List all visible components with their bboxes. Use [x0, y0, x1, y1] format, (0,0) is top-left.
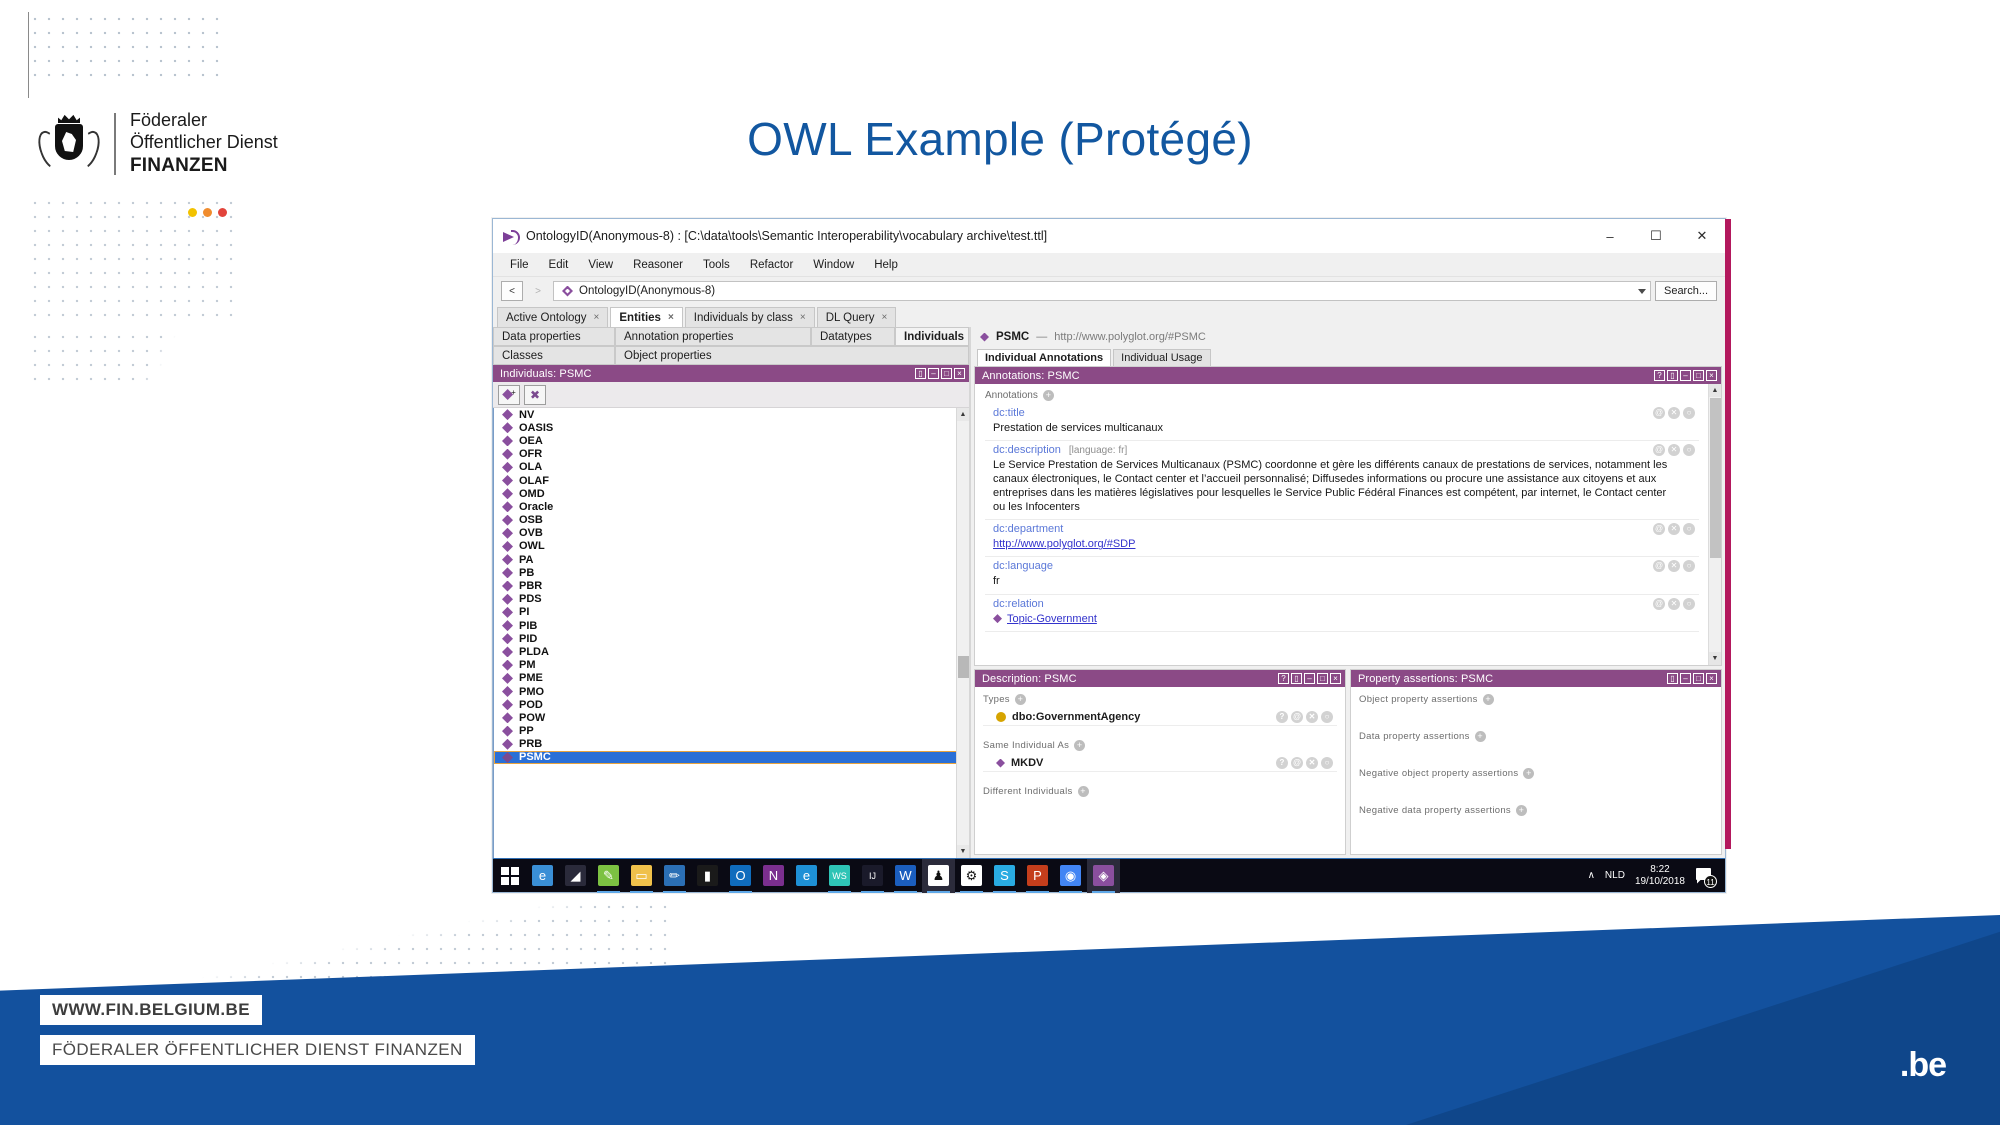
individual-diamond-icon — [502, 541, 513, 552]
list-item[interactable]: OVB — [494, 527, 969, 540]
list-item[interactable]: OMD — [494, 487, 969, 500]
list-item-label: PB — [519, 567, 534, 579]
menu-item-refactor[interactable]: Refactor — [741, 256, 802, 274]
scrollbar-thumb[interactable] — [958, 656, 969, 678]
notification-count-badge: 11 — [1704, 875, 1717, 888]
skype-icon[interactable]: S — [988, 859, 1021, 893]
add-types-button[interactable]: + — [1015, 694, 1026, 705]
list-item-label: PIB — [519, 620, 537, 632]
chrome-icon[interactable]: ◉ — [1054, 859, 1087, 893]
section-label-text: Different Individuals — [983, 786, 1073, 797]
be-logo: .be — [1900, 1046, 1946, 1085]
decorative-dot-grid-top-left — [28, 12, 228, 84]
description-item-label: MKDV — [1011, 757, 1043, 769]
scroll-up-icon[interactable]: ▲ — [1709, 384, 1721, 397]
list-item-label: PRB — [519, 738, 542, 750]
page-title: OWL Example (Protégé) — [0, 112, 2000, 166]
bottom-panels: Description: PSMC ? ▯ – □ × Types+dbo:Go… — [971, 666, 1725, 858]
description-item[interactable]: dbo:GovernmentAgency?@✕○ — [983, 709, 1337, 726]
add-negative-object-property-assertions-button[interactable]: + — [1523, 768, 1534, 779]
protege-glyph: ♟ — [928, 865, 949, 886]
decorative-dot-grid-diagonal — [28, 330, 328, 390]
add-object-property-assertions-button[interactable]: + — [1483, 694, 1494, 705]
subtab-individual-annotations[interactable]: Individual Annotations — [977, 349, 1111, 366]
protege-active-icon[interactable]: ◈ — [1087, 859, 1120, 893]
description-panel-header: Description: PSMC ? ▯ – □ × — [975, 670, 1345, 687]
edit-icon[interactable]: ○ — [1683, 444, 1695, 456]
section-spacer — [983, 772, 1337, 786]
annotate-icon[interactable]: @ — [1291, 711, 1303, 723]
list-item-label: PSMC — [519, 751, 551, 763]
list-item[interactable]: PP — [494, 725, 969, 738]
internet-explorer-icon[interactable]: e — [790, 859, 823, 893]
annotation-value[interactable]: http://www.polyglot.org/#SDP — [993, 537, 1699, 551]
help-panel-icon[interactable]: ? — [1654, 370, 1665, 381]
edit-icon[interactable]: ○ — [1683, 523, 1695, 535]
close-icon[interactable]: × — [882, 312, 888, 323]
entity-tab-row-1: Data properties Annotation properties Da… — [493, 327, 969, 346]
annotation-row-actions: @✕○ — [1653, 598, 1695, 610]
delete-icon[interactable]: ✕ — [1668, 523, 1680, 535]
individuals-scrollbar[interactable]: ▲ ▼ — [956, 408, 969, 858]
annotate-icon[interactable]: @ — [1653, 560, 1665, 572]
protege-active-glyph: ◈ — [1093, 865, 1114, 886]
description-panel-title: Description: PSMC — [982, 673, 1077, 685]
tab-label: Individuals by class — [694, 312, 793, 324]
tab-label: Entities — [619, 312, 661, 324]
delete-individual-button[interactable]: ✖ — [524, 385, 546, 405]
protege-dark-icon[interactable]: ◢ — [559, 859, 592, 893]
work-area: Data properties Annotation properties Da… — [493, 327, 1725, 858]
entity-tab-individuals[interactable]: Individuals — [895, 327, 969, 346]
protege-dark-glyph: ◢ — [565, 865, 586, 886]
ontology-icon — [562, 286, 573, 297]
list-item[interactable]: OLA — [494, 461, 969, 474]
list-item[interactable]: PSMC — [494, 751, 969, 764]
annotations-body: Annotations + dc:titlePrestation de serv… — [975, 384, 1721, 665]
tab-entities[interactable]: Entities× — [610, 307, 682, 327]
section-label-text: Object property assertions — [1359, 694, 1478, 705]
paint-icon[interactable]: ✏ — [658, 859, 691, 893]
individual-diamond-icon — [502, 739, 513, 750]
help-panel-icon[interactable]: ? — [1278, 673, 1289, 684]
tab-label: Active Ontology — [506, 312, 587, 324]
footer-band — [0, 915, 2000, 1125]
edge-glyph: e — [532, 865, 553, 886]
section-spacer — [983, 801, 1337, 815]
description-item-label: dbo:GovernmentAgency — [1012, 711, 1140, 723]
close-button[interactable]: ✕ — [1679, 219, 1725, 253]
close-panel-icon[interactable]: × — [1330, 673, 1341, 684]
individual-diamond-icon — [502, 726, 513, 737]
individual-diamond-icon — [502, 567, 513, 578]
split-pane-icon[interactable]: ▯ — [915, 368, 926, 379]
annotation-property-label[interactable]: dc:description — [993, 444, 1061, 456]
forward-button[interactable]: > — [527, 281, 549, 301]
entity-tab-object-properties[interactable]: Object properties — [615, 346, 969, 365]
annotate-icon[interactable]: @ — [1291, 757, 1303, 769]
description-section-label: Different Individuals+ — [983, 786, 1337, 797]
tab-individuals-by-class[interactable]: Individuals by class× — [685, 307, 815, 327]
add-negative-data-property-assertions-button[interactable]: + — [1516, 805, 1527, 816]
individual-diamond-icon — [502, 528, 513, 539]
annotation-row[interactable]: dc:description[language: fr]Le Service P… — [985, 441, 1699, 520]
annotate-icon[interactable]: @ — [1653, 598, 1665, 610]
minimize-panel-icon[interactable]: – — [1304, 673, 1315, 684]
chrome-glyph: ◉ — [1060, 865, 1081, 886]
annotation-row-actions: @✕○ — [1653, 444, 1695, 456]
maximize-panel-icon[interactable]: □ — [941, 368, 952, 379]
menu-item-help[interactable]: Help — [865, 256, 907, 274]
minimize-panel-icon[interactable]: – — [1680, 370, 1691, 381]
onenote-icon[interactable]: N — [757, 859, 790, 893]
delete-icon[interactable]: ✕ — [1668, 598, 1680, 610]
scroll-down-icon[interactable]: ▼ — [957, 845, 969, 858]
protege-icon[interactable]: ♟ — [922, 859, 955, 893]
entity-type-tabs: Data properties Annotation properties Da… — [493, 327, 969, 365]
notification-center-icon[interactable]: 11 — [1695, 866, 1715, 886]
assertion-section-label: Object property assertions+ — [1359, 694, 1713, 705]
back-button[interactable]: < — [501, 281, 523, 301]
start-button[interactable] — [493, 859, 526, 893]
add-data-property-assertions-button[interactable]: + — [1475, 731, 1486, 742]
entity-tab-classes[interactable]: Classes — [493, 346, 615, 365]
protege-app-icon — [503, 230, 518, 243]
entity-tab-row-2: Classes Object properties — [493, 346, 969, 365]
panel-header-icons: ▯ – □ × — [915, 368, 965, 379]
outlook-icon[interactable]: O — [724, 859, 757, 893]
entity-tab-data-properties[interactable]: Data properties — [493, 327, 615, 346]
edit-icon[interactable]: ○ — [1683, 407, 1695, 419]
list-item-label: PME — [519, 672, 543, 684]
list-item[interactable]: PLDA — [494, 645, 969, 658]
protege-application-window: OntologyID(Anonymous-8) : [C:\data\tools… — [492, 218, 1726, 893]
individual-diamond-icon — [502, 752, 513, 763]
property-assertions-panel-header: Property assertions: PSMC ▯ – □ × — [1351, 670, 1721, 687]
annotations-section-label: Annotations + — [985, 390, 1699, 401]
powerpoint-glyph: P — [1027, 865, 1048, 886]
close-icon[interactable]: × — [594, 312, 600, 323]
add-different-individuals-button[interactable]: + — [1078, 786, 1089, 797]
list-item-label: OLAF — [519, 475, 549, 487]
description-item[interactable]: MKDV?@✕○ — [983, 755, 1337, 772]
individual-diamond-icon — [502, 409, 513, 420]
assertion-section-label: Data property assertions+ — [1359, 731, 1713, 742]
paint-glyph: ✏ — [664, 865, 685, 886]
individual-diamond-icon — [502, 712, 513, 723]
webstorm-glyph: WS — [829, 865, 850, 886]
panel-header-icons: ▯ – □ × — [1667, 673, 1717, 684]
left-column: Data properties Annotation properties Da… — [493, 327, 971, 858]
menu-bar: File Edit View Reasoner Tools Refactor W… — [493, 253, 1725, 277]
close-icon[interactable]: × — [668, 312, 674, 323]
annotations-panel-header: Annotations: PSMC ? ▯ – □ × — [975, 367, 1721, 384]
tray-clock[interactable]: 8:22 19/10/2018 — [1635, 864, 1685, 888]
intellij-icon[interactable]: IJ — [856, 859, 889, 893]
edit-icon[interactable]: ○ — [1683, 598, 1695, 610]
windows-logo-icon — [501, 867, 519, 885]
individual-diamond-icon — [502, 581, 513, 592]
list-item-label: OLA — [519, 461, 542, 473]
list-item[interactable]: OEA — [494, 434, 969, 447]
window-controls: – ☐ ✕ — [1587, 219, 1725, 253]
annotation-row-actions: @✕○ — [1653, 523, 1695, 535]
individual-diamond-icon — [502, 594, 513, 605]
list-item-label: PLDA — [519, 646, 549, 658]
footer-subtitle: FÖDERALER ÖFFENTLICHER DIENST FINANZEN — [40, 1035, 475, 1065]
help-icon[interactable]: ? — [1276, 711, 1288, 723]
system-tray: ∧ NLD 8:22 19/10/2018 11 — [1588, 864, 1725, 888]
skype-glyph: S — [994, 865, 1015, 886]
menu-item-view[interactable]: View — [579, 256, 622, 274]
tray-date: 19/10/2018 — [1635, 876, 1685, 887]
annotation-property-label[interactable]: dc:relation — [993, 598, 1044, 610]
add-same-individual-as-button[interactable]: + — [1074, 740, 1085, 751]
edit-icon[interactable]: ○ — [1683, 560, 1695, 572]
individual-diamond-icon — [502, 686, 513, 697]
close-icon[interactable]: × — [800, 312, 806, 323]
list-item[interactable]: PDS — [494, 593, 969, 606]
individual-diamond-icon — [502, 673, 513, 684]
powerpoint-icon[interactable]: P — [1021, 859, 1054, 893]
annotations-label-text: Annotations — [985, 390, 1038, 401]
word-icon[interactable]: W — [889, 859, 922, 893]
individual-diamond-icon — [502, 633, 513, 644]
menu-item-edit[interactable]: Edit — [540, 256, 578, 274]
edit-icon[interactable]: ○ — [1321, 711, 1333, 723]
settings-icon[interactable]: ⚙ — [955, 859, 988, 893]
footer-url: WWW.FIN.BELGIUM.BE — [40, 995, 262, 1025]
edge-icon[interactable]: e — [526, 859, 559, 893]
list-item-label: POW — [519, 712, 545, 724]
annotate-icon[interactable]: @ — [1653, 444, 1665, 456]
maximize-panel-icon[interactable]: □ — [1317, 673, 1328, 684]
minimize-panel-icon[interactable]: – — [1680, 673, 1691, 684]
ontology-navigation-bar: < > OntologyID(Anonymous-8) Search... — [493, 277, 1725, 305]
description-row-actions: ?@✕○ — [1276, 757, 1333, 769]
close-panel-icon[interactable]: × — [1706, 370, 1717, 381]
class-circle-icon — [996, 712, 1006, 722]
command-prompt-glyph: ▮ — [697, 865, 718, 886]
section-label-text: Negative data property assertions — [1359, 805, 1511, 816]
annotation-value: fr — [993, 574, 1699, 588]
internet-explorer-glyph: e — [796, 865, 817, 886]
annotation-row-actions: @✕○ — [1653, 407, 1695, 419]
minimize-button[interactable]: – — [1587, 219, 1633, 253]
scrollbar-thumb[interactable] — [1710, 398, 1721, 558]
menu-item-tools[interactable]: Tools — [694, 256, 739, 274]
menu-item-window[interactable]: Window — [804, 256, 863, 274]
list-item-label: OEA — [519, 435, 543, 447]
list-item[interactable]: NV — [494, 408, 969, 421]
webstorm-icon[interactable]: WS — [823, 859, 856, 893]
list-item-label: PP — [519, 725, 534, 737]
file-explorer-icon[interactable]: ▭ — [625, 859, 658, 893]
split-pane-icon[interactable]: ▯ — [1667, 370, 1678, 381]
panel-header-icons: ? ▯ – □ × — [1278, 673, 1341, 684]
list-item[interactable]: PIB — [494, 619, 969, 632]
list-item[interactable]: OFR — [494, 448, 969, 461]
individual-diamond-icon — [502, 607, 513, 618]
individual-diamond-icon — [502, 422, 513, 433]
list-item-label: OASIS — [519, 422, 553, 434]
delete-icon[interactable]: ✕ — [1668, 560, 1680, 572]
description-section-label: Same Individual As+ — [983, 740, 1337, 751]
assertion-section-label: Negative object property assertions+ — [1359, 768, 1713, 779]
tab-label: DL Query — [826, 312, 875, 324]
annotation-language-tag: [language: fr] — [1069, 445, 1127, 456]
list-item[interactable]: PBR — [494, 579, 969, 592]
list-item[interactable]: PRB — [494, 738, 969, 751]
annotation-row[interactable]: dc:titlePrestation de services multicana… — [985, 404, 1699, 441]
minimize-panel-icon[interactable]: – — [928, 368, 939, 379]
individual-diamond-icon — [502, 475, 513, 486]
scroll-down-icon[interactable]: ▼ — [1709, 652, 1721, 665]
tray-language[interactable]: NLD — [1605, 870, 1625, 881]
intellij-glyph: IJ — [862, 865, 883, 886]
annotate-icon[interactable]: @ — [1653, 523, 1665, 535]
annotation-row[interactable]: dc:departmenthttp://www.polyglot.org/#SD… — [985, 520, 1699, 557]
list-item[interactable]: POD — [494, 698, 969, 711]
annotate-icon[interactable]: @ — [1653, 407, 1665, 419]
delete-icon[interactable]: ✕ — [1306, 757, 1318, 769]
windows-taskbar: e◢✎▭✏▮ONeWSIJW♟⚙SP◉◈ ∧ NLD 8:22 19/10/20… — [493, 858, 1725, 892]
list-item-label: PM — [519, 659, 536, 671]
list-item[interactable]: OWL — [494, 540, 969, 553]
notepadpp-icon[interactable]: ✎ — [592, 859, 625, 893]
ontology-selector[interactable]: OntologyID(Anonymous-8) — [553, 281, 1651, 301]
entity-tab-annotation-properties[interactable]: Annotation properties — [615, 327, 811, 346]
delete-icon[interactable]: ✕ — [1306, 711, 1318, 723]
list-item[interactable]: PID — [494, 632, 969, 645]
split-pane-icon[interactable]: ▯ — [1291, 673, 1302, 684]
decorative-vertical-rule — [28, 12, 29, 98]
individuals-list[interactable]: NVOASISOEAOFROLAOLAFOMDOracleOSBOVBOWLPA… — [493, 408, 969, 858]
command-prompt-icon[interactable]: ▮ — [691, 859, 724, 893]
list-item-label: Oracle — [519, 501, 553, 513]
list-item[interactable]: PM — [494, 659, 969, 672]
individual-diamond-icon — [502, 435, 513, 446]
annotation-row[interactable]: dc:languagefr@✕○ — [985, 557, 1699, 594]
individuals-panel-header: Individuals: PSMC ▯ – □ × — [493, 365, 969, 382]
entity-iri: http://www.polyglot.org/#PSMC — [1054, 331, 1206, 343]
annotations-scrollbar[interactable]: ▲ ▼ — [1708, 384, 1721, 665]
list-item-label: PBR — [519, 580, 542, 592]
list-item-label: OSB — [519, 514, 543, 526]
list-item-label: PID — [519, 633, 537, 645]
list-item[interactable]: PI — [494, 606, 969, 619]
outlook-glyph: O — [730, 865, 751, 886]
menu-item-reasoner[interactable]: Reasoner — [624, 256, 692, 274]
list-item[interactable]: OLAF — [494, 474, 969, 487]
list-item[interactable]: PB — [494, 566, 969, 579]
split-pane-icon[interactable]: ▯ — [1667, 673, 1678, 684]
individual-diamond-icon — [502, 501, 513, 512]
list-item[interactable]: OASIS — [494, 421, 969, 434]
annotation-entity-link[interactable]: Topic-Government — [1007, 612, 1097, 626]
window-title-caption: OntologyID(Anonymous-8) : [C:\data\tools… — [503, 229, 1047, 243]
delete-icon[interactable]: ✕ — [1668, 444, 1680, 456]
list-item[interactable]: OSB — [494, 514, 969, 527]
section-label-text: Same Individual As — [983, 740, 1069, 751]
section-label-text: Types — [983, 694, 1010, 705]
annotations-panel: Annotations: PSMC ? ▯ – □ × Annotations … — [974, 366, 1722, 666]
right-column: PSMC — http://www.polyglot.org/#PSMC Ind… — [971, 327, 1725, 858]
individuals-toolbar: + ✖ — [493, 382, 969, 408]
tab-active-ontology[interactable]: Active Ontology× — [497, 307, 608, 327]
annotation-property-label[interactable]: dc:language — [993, 560, 1053, 572]
annotation-value[interactable]: Topic-Government — [993, 612, 1699, 626]
maximize-button[interactable]: ☐ — [1633, 219, 1679, 253]
maximize-panel-icon[interactable]: □ — [1693, 673, 1704, 684]
entity-name: PSMC — [996, 331, 1029, 343]
list-item-label: PA — [519, 554, 533, 566]
individual-diamond-icon — [502, 620, 513, 631]
individual-diamond-icon — [502, 449, 513, 460]
list-item[interactable]: POW — [494, 711, 969, 724]
tray-chevron-icon[interactable]: ∧ — [1588, 870, 1595, 881]
close-panel-icon[interactable]: × — [954, 368, 965, 379]
entity-sub-tabs: Individual Annotations Individual Usage — [971, 347, 1725, 366]
annotations-panel-title: Annotations: PSMC — [982, 370, 1080, 382]
close-panel-icon[interactable]: × — [1706, 673, 1717, 684]
list-item-label: OMD — [519, 488, 545, 500]
entity-tab-datatypes[interactable]: Datatypes — [811, 327, 895, 346]
annotation-property-label[interactable]: dc:title — [993, 407, 1025, 419]
subtab-individual-usage[interactable]: Individual Usage — [1113, 349, 1210, 366]
individual-diamond-icon — [502, 699, 513, 710]
annotation-property-label[interactable]: dc:department — [993, 523, 1063, 535]
onenote-glyph: N — [763, 865, 784, 886]
annotation-row[interactable]: dc:relationTopic-Government@✕○ — [985, 595, 1699, 632]
list-item[interactable]: PME — [494, 672, 969, 685]
window-titlebar[interactable]: OntologyID(Anonymous-8) : [C:\data\tools… — [493, 219, 1725, 253]
section-spacer — [983, 726, 1337, 740]
description-body: Types+dbo:GovernmentAgency?@✕○Same Indiv… — [975, 687, 1345, 854]
description-row-actions: ?@✕○ — [1276, 711, 1333, 723]
entity-separator: — — [1036, 331, 1047, 343]
individuals-panel-title: Individuals: PSMC — [500, 368, 592, 380]
ontology-selector-label: OntologyID(Anonymous-8) — [579, 285, 715, 297]
individual-diamond-icon — [502, 488, 513, 499]
help-icon[interactable]: ? — [1276, 757, 1288, 769]
individual-diamond-icon — [502, 660, 513, 671]
scroll-up-icon[interactable]: ▲ — [957, 408, 969, 421]
add-individual-button[interactable]: + — [498, 385, 520, 405]
main-tab-strip: Active Ontology× Entities× Individuals b… — [493, 305, 1725, 327]
search-input[interactable]: Search... — [1655, 281, 1717, 301]
list-item-label: OWL — [519, 540, 545, 552]
property-assertions-panel: Property assertions: PSMC ▯ – □ × Object… — [1350, 669, 1722, 855]
property-assertions-panel-title: Property assertions: PSMC — [1358, 673, 1493, 685]
individual-diamond-icon — [502, 515, 513, 526]
tray-time: 8:22 — [1650, 864, 1669, 875]
list-item[interactable]: Oracle — [494, 500, 969, 513]
annotation-row-actions: @✕○ — [1653, 560, 1695, 572]
tab-dl-query[interactable]: DL Query× — [817, 307, 897, 327]
maximize-panel-icon[interactable]: □ — [1693, 370, 1704, 381]
list-item[interactable]: PA — [494, 553, 969, 566]
file-explorer-glyph: ▭ — [631, 865, 652, 886]
menu-item-file[interactable]: File — [501, 256, 538, 274]
decorative-dot-trio — [188, 208, 227, 217]
edit-icon[interactable]: ○ — [1321, 757, 1333, 769]
add-annotation-button[interactable]: + — [1043, 390, 1054, 401]
list-item-label: NV — [519, 409, 534, 421]
list-item[interactable]: PMO — [494, 685, 969, 698]
property-assertions-body: Object property assertions+Data property… — [1351, 687, 1721, 854]
delete-icon[interactable]: ✕ — [1668, 407, 1680, 419]
